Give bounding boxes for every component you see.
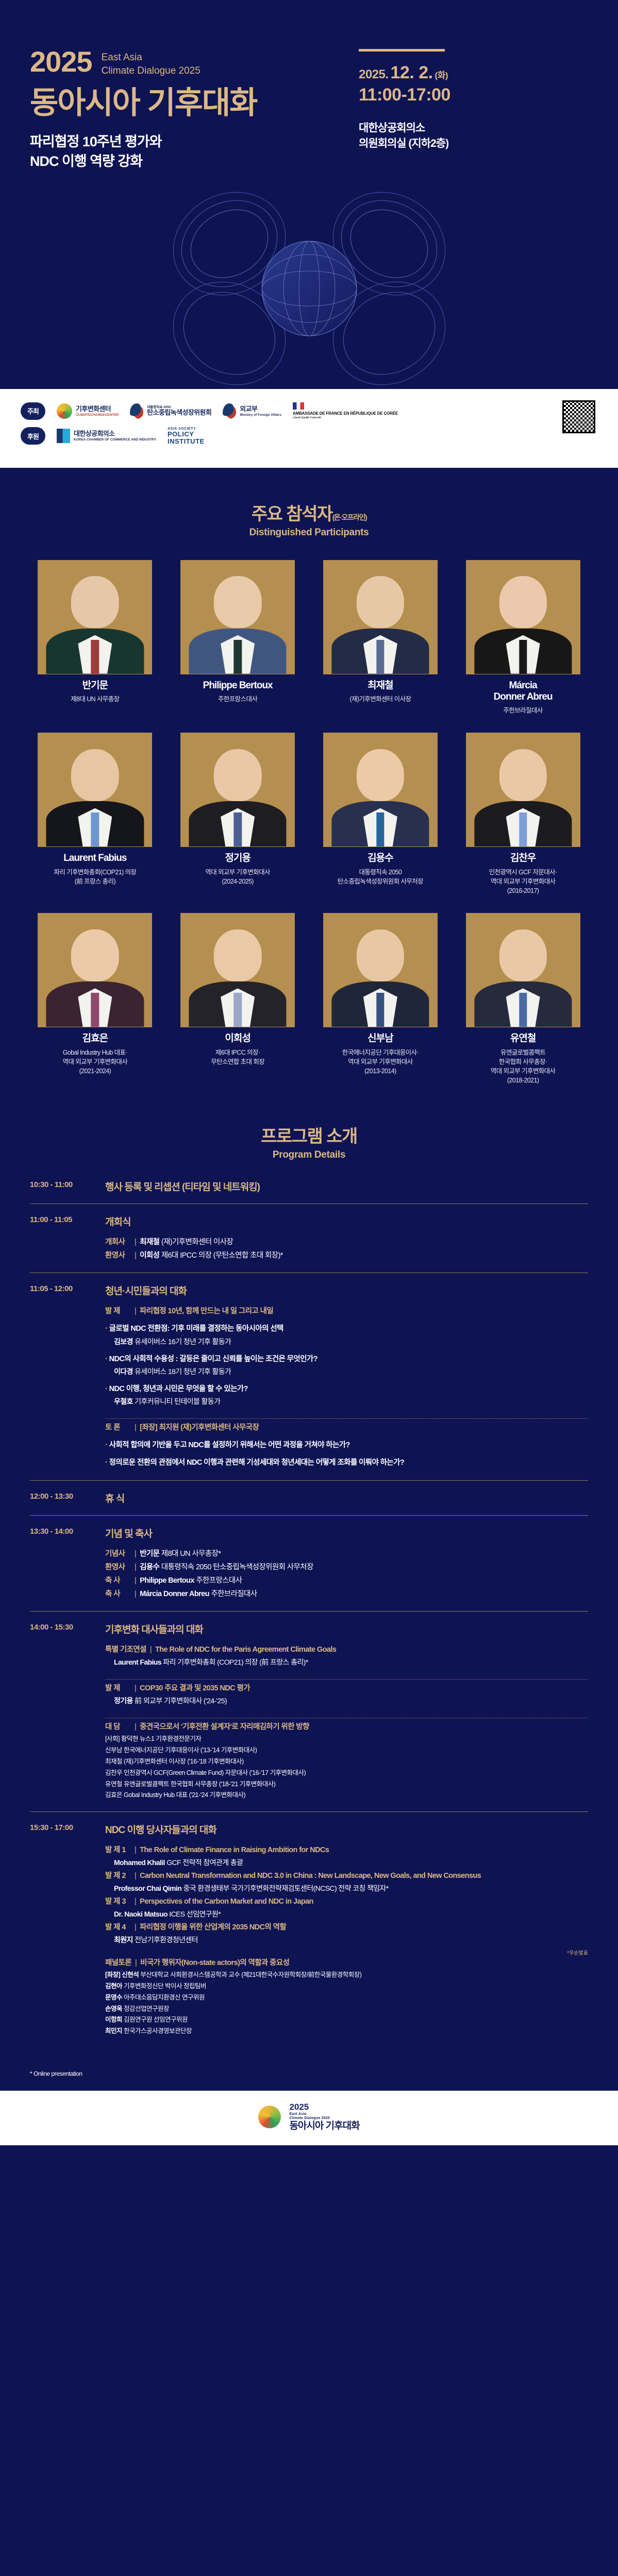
participant-card: Laurent Fabius파리 기후변화총회(COP21) 의장 (前 프랑스…: [27, 733, 163, 895]
date-prefix: 2025.: [359, 67, 389, 81]
event-venue: 대한상공회의소 의원회의실 (지하2층): [359, 121, 588, 152]
program-labeled-line: 패널토론|비국가 행위자(Non-state actors)의 역할과 중요성: [105, 1956, 588, 1970]
program-footnote: * Online presentation: [0, 2068, 618, 2077]
program-title: 청년·시민들과의 대화: [105, 1283, 187, 1297]
program-heading: 프로그램 소개 Program Details: [0, 1090, 618, 1164]
host-logo-row: 주최 기후변화센터 CLIMATECHANGECENTER 대통령직속 2050…: [21, 402, 597, 420]
hero-english-subtitle: East Asia Climate Dialogue 2025: [102, 49, 201, 77]
program-title: 행사 등록 및 리셉션 (티타임 및 네트워킹): [105, 1179, 260, 1193]
logo-ccc-text: 기후변화센터 CLIMATECHANGECENTER: [76, 405, 119, 417]
participant-role: 역대 외교부 기후변화대사 (2024-2025): [170, 868, 306, 886]
participants-title-kr: 주요 참석자(온·오프라인): [0, 500, 618, 525]
program-row-head: 10:30 - 11:00행사 등록 및 리셉션 (티타임 및 네트워킹): [30, 1179, 588, 1193]
program-speaker: 최원지 전남기후환경청년센터: [105, 1934, 588, 1946]
participant-card: 정기용역대 외교부 기후변화대사 (2024-2025): [170, 733, 306, 895]
participant-card: 김용수대통령직속 2050 탄소중립녹색성장위원회 사무처장: [312, 733, 449, 895]
participant-name: 김용수: [312, 853, 449, 864]
participant-card: Philippe Bertoux주한프랑스대사: [170, 560, 306, 716]
participant-card: 이회성제6대 IPCC 의장· 무탄소연합 초대 회장: [170, 913, 306, 1085]
footer-text: 2025 East Asia Climate Dialogue 2025 동아시…: [289, 2102, 359, 2131]
program-labeled-line: 기념사|반기문 제8대 UN 사무총장*: [105, 1547, 588, 1561]
logo-kcci-text: 대한상공회의소 KOREA CHAMBER OF COMMERCE AND IN…: [74, 430, 156, 442]
program-speaker: 이다경 유세이버스 18기 청년 기후 활동가: [105, 1366, 588, 1378]
program-panelist: 손영욱 정감선업연구원장: [105, 2004, 588, 2015]
program-body: 개회사|최재철 (재)기후변화센터 이사장환영사|이회성 제6대 IPCC 의장…: [105, 1235, 588, 1262]
program-time: 11:00 - 11:05: [30, 1214, 96, 1224]
participant-role: 제8대 UN 사무총장: [27, 694, 163, 704]
program-bullet: 사회적 합의에 기반을 두고 NDC를 설정하기 위해서는 어떤 과정을 거쳐야…: [105, 1439, 588, 1452]
poster-root: 2025 East Asia Climate Dialogue 2025 동아시…: [0, 0, 618, 2576]
participant-photo: [466, 913, 580, 1027]
participant-card: 반기문제8대 UN 사무총장: [27, 560, 163, 716]
participant-card: 유연철유엔글로벌콤팩트 한국협회 사무총장· 역대 외교부 기후변화대사 (20…: [455, 913, 591, 1085]
logo-france-text: AMBASSADE DE FRANCE EN RÉPUBLIQUE DE COR…: [293, 402, 398, 420]
program-title: 기후변화 대사들과의 대화: [105, 1622, 203, 1636]
program-row: 11:05 - 12:00청년·시민들과의 대화발 제|파리협정 10년, 함께…: [30, 1273, 588, 1480]
hero-graphic: [0, 183, 618, 389]
kcci-icon: [57, 429, 70, 443]
gold-divider: [359, 49, 445, 52]
program-bullet: NDC 이행, 청년과 시민은 무엇을 할 수 있는가?: [105, 1383, 588, 1396]
participant-photo: [466, 560, 580, 674]
logo-2050-committee: 대통령직속 2050 탄소중립녹색성장위원회: [130, 403, 211, 419]
program-panelist: 문영수 아주대소음담지환경신 연구위원: [105, 1992, 588, 2004]
program-time: 13:30 - 14:00: [30, 1526, 96, 1536]
hero-year: 2025: [30, 49, 92, 75]
program-row: 11:00 - 11:05개회식개회사|최재철 (재)기후변화센터 이사장환영사…: [30, 1204, 588, 1273]
program-row: 14:00 - 15:30기후변화 대사들과의 대화특별 기조연설|The Ro…: [30, 1612, 588, 1812]
program-bullet: 글로벌 NDC 전환점: 기후 미래를 결정하는 동아시아의 선택: [105, 1323, 588, 1335]
hero-left: 2025 East Asia Climate Dialogue 2025 동아시…: [30, 49, 349, 172]
participant-card: 최재철(재)기후변화센터 이사장: [312, 560, 449, 716]
program-row-head: 11:05 - 12:00청년·시민들과의 대화: [30, 1283, 588, 1297]
participant-name: Márcia Donner Abreu: [455, 680, 591, 703]
participant-photo: [323, 913, 438, 1027]
footer-eng: East Asia Climate Dialogue 2025: [289, 2112, 359, 2121]
participant-name: Laurent Fabius: [27, 853, 163, 864]
program-note: [사회] 황덕현 뉴스1 기후환경전문기자: [105, 1734, 588, 1745]
participant-photo: [180, 913, 295, 1027]
sponsor-badge: 후원: [21, 427, 45, 445]
program-row-head: 14:00 - 15:30기후변화 대사들과의 대화: [30, 1622, 588, 1636]
program-bullet: 정의로운 전환의 관점에서 NDC 이행과 관련해 기성세대와 청년세대는 어떻…: [105, 1456, 588, 1469]
logo-mofa: 외교부 Ministry of Foreign Affairs: [223, 403, 281, 419]
program-speaker: Dr. Naoki Matsuo ICES 선임연구원*: [105, 1908, 588, 1921]
program-row: 12:00 - 13:30휴 식: [30, 1481, 588, 1516]
program-title-kr: 프로그램 소개: [0, 1122, 618, 1147]
france-flag-icon: [293, 402, 304, 410]
date-main: 12. 2.: [391, 63, 433, 82]
participant-photo: [323, 733, 438, 847]
sponsor-logo-strip: 주최 기후변화센터 CLIMATECHANGECENTER 대통령직속 2050…: [0, 389, 618, 468]
logo-asia-society: ASIA SOCIETYPOLICYINSTITUTE: [168, 427, 205, 445]
program-labeled-line: 발 제 1|The Role of Climate Finance in Rai…: [105, 1843, 588, 1857]
program-labeled-line: 특별 기조연설|The Role of NDC for the Paris Ag…: [105, 1643, 588, 1656]
logo-climate-change-center: 기후변화센터 CLIMATECHANGECENTER: [57, 403, 119, 419]
date-day: (화): [435, 71, 448, 80]
event-date: 2025. 12. 2. (화): [359, 63, 588, 83]
participant-role: 대통령직속 2050 탄소중립녹색성장위원회 사무처장: [312, 868, 449, 886]
program-labeled-line: 발 제 3|Perspectives of the Carbon Market …: [105, 1895, 588, 1908]
participant-role: (재)기후변화센터 이사장: [312, 694, 449, 704]
participant-name: 신부남: [312, 1033, 449, 1044]
program-divider: [105, 1679, 588, 1680]
participant-name: 김효은: [27, 1033, 163, 1044]
program-divider: [105, 1418, 588, 1419]
program-body: 발 제 1|The Role of Climate Finance in Rai…: [105, 1843, 588, 2037]
logo-2050-text: 대통령직속 2050 탄소중립녹색성장위원회: [147, 405, 211, 417]
program-row: 15:30 - 17:00NDC 이행 당사자들과의 대화발 제 1|The R…: [30, 1812, 588, 2047]
program-body: 기념사|반기문 제8대 UN 사무총장*환영사|김용수 대통령직속 2050 탄…: [105, 1547, 588, 1601]
participant-name: 유연철: [455, 1033, 591, 1044]
program-labeled-line: 대 담|중견국으로서 '기후전환 설계자'로 자리매김하기 위한 방향: [105, 1720, 588, 1734]
qr-code-icon[interactable]: [562, 400, 595, 433]
footer-globe-icon: [258, 2106, 281, 2128]
participant-card: 김찬우인천광역시 GCF 자문대사· 역대 외교부 기후변화대사 (2016-2…: [455, 733, 591, 895]
program-title: NDC 이행 당사자들과의 대화: [105, 1822, 216, 1836]
program-note: 신부남 한국에너지공단 기후대응이사 ('13-'14 기후변화대사): [105, 1745, 588, 1756]
participant-name: 정기용: [170, 853, 306, 864]
participant-photo: [180, 733, 295, 847]
participant-card: 김효은Gobal Industry Hub 대표· 역대 외교부 기후변화대사 …: [27, 913, 163, 1085]
program-note: 김효은 Gobal Industry Hub 대표 ('21-'24 기후변화대…: [105, 1790, 588, 1801]
logo-mofa-text: 외교부 Ministry of Foreign Affairs: [240, 405, 281, 417]
event-time: 11:00-17:00: [359, 85, 588, 105]
participant-photo: [323, 560, 438, 674]
program-panelist: 최민지 한국가스공사경영보관단장: [105, 2026, 588, 2037]
program-title: 개회식: [105, 1214, 130, 1228]
participant-photo: [38, 733, 152, 847]
program-time: 14:00 - 15:30: [30, 1622, 96, 1632]
program-labeled-line: 축 사|Philippe Bertoux 주한프랑스대사: [105, 1574, 588, 1587]
participant-card: 신부남한국에너지공단 기후대응이사· 역대 외교부 기후변화대사 (2013-2…: [312, 913, 449, 1085]
program-time: 10:30 - 11:00: [30, 1179, 96, 1189]
program-time: 11:05 - 12:00: [30, 1283, 96, 1293]
program-note: 김찬우 인천광역시 GCF(Green Climate Fund) 자문대사 (…: [105, 1768, 588, 1779]
globe-icon: [57, 403, 72, 419]
participant-name: 이회성: [170, 1033, 306, 1044]
hero-subtitle: 파리협정 10주년 평가와 NDC 이행 역량 강화: [30, 132, 349, 172]
participant-role: 인천광역시 GCF 자문대사· 역대 외교부 기후변화대사 (2016-2017…: [455, 868, 591, 895]
program-row: 13:30 - 14:00기념 및 축사기념사|반기문 제8대 UN 사무총장*…: [30, 1516, 588, 1612]
program-right-note: *무순발표: [105, 1948, 588, 1956]
program-panelist: 이항희 김원연구원 선임연구위원: [105, 2014, 588, 2026]
participant-role: 주한프랑스대사: [170, 694, 306, 704]
participant-photo: [466, 733, 580, 847]
participant-photo: [180, 560, 295, 674]
program-body: 발 제|파리협정 10년, 함께 만드는 내 일 그리고 내일글로벌 NDC 전…: [105, 1304, 588, 1469]
hero-eng-line2: Climate Dialogue 2025: [102, 64, 201, 78]
program-labeled-line: 발 제 2|Carbon Neutral Transformation and …: [105, 1869, 588, 1883]
logo-kcci: 대한상공회의소 KOREA CHAMBER OF COMMERCE AND IN…: [57, 429, 156, 443]
program-labeled-line: 발 제|COP30 주요 결과 및 2035 NDC 평가: [105, 1682, 588, 1695]
participant-name: Philippe Bertoux: [170, 680, 306, 691]
program-time: 12:00 - 13:30: [30, 1491, 96, 1501]
participants-title-en: Distinguished Participants: [0, 527, 618, 538]
program-row-head: 15:30 - 17:00NDC 이행 당사자들과의 대화: [30, 1822, 588, 1836]
program-title-en: Program Details: [0, 1149, 618, 1161]
participant-role: 유엔글로벌콤팩트 한국협회 사무총장· 역대 외교부 기후변화대사 (2018-…: [455, 1048, 591, 1086]
program-speaker: Mohamed Khalil GCF 전략적 참여관계 총괄: [105, 1857, 588, 1869]
program-labeled-line: 토 론|[좌장] 최지원 (재)기후변화센터 사무국장: [105, 1421, 588, 1434]
participant-role: 제6대 IPCC 의장· 무탄소연합 초대 회장: [170, 1048, 306, 1066]
footer-year: 2025: [289, 2102, 359, 2112]
participant-photo: [38, 560, 152, 674]
sponsor-logo-row: 후원 대한상공회의소 KOREA CHAMBER OF COMMERCE AND…: [21, 427, 597, 445]
program-speaker: 우철호 기후커뮤니티 틴테이블 활동가: [105, 1396, 588, 1408]
participant-name: 반기문: [27, 680, 163, 691]
program-title: 기념 및 축사: [105, 1526, 152, 1540]
participant-card: Márcia Donner Abreu주한브라질대사: [455, 560, 591, 716]
hero-eng-line1: East Asia: [102, 51, 201, 64]
program-speaker: Professor Chai Qimin 중국 환경생태부 국가기후변화전략재검…: [105, 1883, 588, 1895]
participant-name: 최재철: [312, 680, 449, 691]
program-row-head: 12:00 - 13:30휴 식: [30, 1491, 588, 1505]
program-speaker: Laurent Fabius 파리 기후변화총회 (COP21) 의장 (前 프…: [105, 1656, 588, 1669]
hero-section: 2025 East Asia Climate Dialogue 2025 동아시…: [0, 0, 618, 389]
footer-kr: 동아시아 기후대화: [289, 2121, 359, 2132]
program-bullet: NDC의 사회적 수용성 : 갈등은 줄이고 신뢰를 높이는 조건은 무엇인가?: [105, 1353, 588, 1366]
participants-grid: 반기문제8대 UN 사무총장Philippe Bertoux주한프랑스대사최재철…: [0, 541, 618, 1091]
program-labeled-line: 개회사|최재철 (재)기후변화센터 이사장: [105, 1235, 588, 1249]
program-list: 10:30 - 11:00행사 등록 및 리셉션 (티타임 및 네트워킹)11:…: [0, 1164, 618, 2068]
program-labeled-line: 발 제 4|파리협정 이행을 위한 산업계의 2035 NDC의 역할: [105, 1921, 588, 1934]
hero-right: 2025. 12. 2. (화) 11:00-17:00 대한상공회의소 의원회…: [349, 49, 588, 172]
program-labeled-line: 축 사|Márcia Donner Abreu 주한브라질대사: [105, 1587, 588, 1601]
hero-main-title: 동아시아 기후대화: [30, 87, 349, 119]
program-row-head: 13:30 - 14:00기념 및 축사: [30, 1526, 588, 1540]
host-badge: 주최: [21, 402, 45, 420]
program-speaker: 김보경 유세이버스 16기 청년 기후 활동가: [105, 1336, 588, 1348]
participant-photo: [38, 913, 152, 1027]
footer: 2025 East Asia Climate Dialogue 2025 동아시…: [0, 2091, 618, 2145]
asia-society-icon: ASIA SOCIETYPOLICYINSTITUTE: [168, 427, 205, 445]
participant-role: Gobal Industry Hub 대표· 역대 외교부 기후변화대사 (20…: [27, 1048, 163, 1076]
participant-name: 김찬우: [455, 853, 591, 864]
taegeuk-icon: [223, 403, 236, 419]
program-labeled-line: 발 제|파리협정 10년, 함께 만드는 내 일 그리고 내일: [105, 1304, 588, 1318]
participant-role: 한국에너지공단 기후대응이사· 역대 외교부 기후변화대사 (2013-2014…: [312, 1048, 449, 1076]
program-divider: [105, 1718, 588, 1718]
program-row-head: 11:00 - 11:05개회식: [30, 1214, 588, 1228]
program-note: 유연철 유엔글로벌콤팩트 한국협회 사무총장 ('18-'21 기후변화대사): [105, 1779, 588, 1790]
participant-role: 파리 기후변화총회(COP21) 의장 (前 프랑스 총리): [27, 868, 163, 886]
program-row: 10:30 - 11:00행사 등록 및 리셉션 (티타임 및 네트워킹): [30, 1169, 588, 1204]
participant-role: 주한브라질대사: [455, 706, 591, 715]
program-body: 특별 기조연설|The Role of NDC for the Paris Ag…: [105, 1643, 588, 1801]
program-labeled-line: 환영사|김용수 대통령직속 2050 탄소중립녹색성장위원회 사무처장: [105, 1561, 588, 1574]
participants-heading: 주요 참석자(온·오프라인) Distinguished Participant…: [0, 468, 618, 541]
program-panelist: 김현아 기후변화정신단 박이사 정립팀버: [105, 1981, 588, 1992]
program-title: 휴 식: [105, 1491, 124, 1505]
program-note: 최재철 (재)기후변화센터 이사장 ('16-'18 기후변화대사): [105, 1756, 588, 1768]
program-time: 15:30 - 17:00: [30, 1822, 96, 1832]
hero-title-row: 2025 East Asia Climate Dialogue 2025: [30, 49, 349, 77]
program-labeled-line: 환영사|이회성 제6대 IPCC 의장 (무탄소연합 초대 회장)*: [105, 1249, 588, 1262]
program-panelist: [좌장] 신현석 부산대학교 사회환경시스템공학과 교수 (제21대한국수자원학…: [105, 1970, 588, 1981]
logo-france-embassy: AMBASSADE DE FRANCE EN RÉPUBLIQUE DE COR…: [293, 402, 398, 420]
program-speaker: 정기용 前 외교부 기후변화대사 ('24-'25): [105, 1695, 588, 1707]
taegeuk-icon: [130, 403, 143, 419]
